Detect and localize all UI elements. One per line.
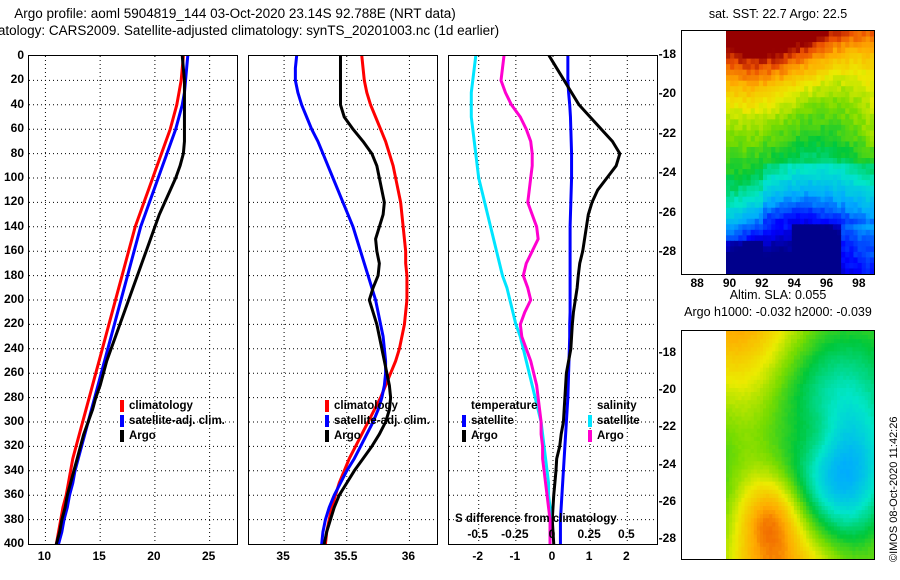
tick-label: 20 (0, 72, 24, 86)
tick-label: -0.5 (458, 527, 498, 541)
tick-label: 260 (0, 365, 24, 379)
difference-top-axis-label: S difference from climatology (455, 513, 617, 525)
legend-row: Argo (462, 428, 537, 443)
sla-map-title1: Altim. SLA: 0.055 (678, 288, 878, 302)
tick-label: -20 (650, 382, 676, 396)
tick-label: -0.25 (495, 527, 535, 541)
difference-legend-temperature: temperaturesatelliteArgo (462, 398, 537, 443)
tick-label: 80 (0, 146, 24, 160)
tick-label: 35 (265, 549, 301, 563)
tick-label: 400 (0, 536, 24, 550)
sla-map-title2: Argo h1000: -0.032 h2000: -0.039 (658, 305, 898, 319)
legend-swatch (325, 400, 329, 412)
page-title-line2: Climatology: CARS2009. Satellite-adjuste… (0, 23, 685, 38)
tick-label: 240 (0, 341, 24, 355)
tick-label: 25 (199, 549, 219, 563)
credit-text: ©IMOS 08-Oct-2020 11:42:26 (888, 417, 900, 562)
legend-row: climatology (120, 398, 225, 413)
temperature-profile-panel (28, 55, 238, 545)
tick-label: 0 (0, 48, 24, 62)
tick-label: 320 (0, 438, 24, 452)
legend-swatch (325, 415, 329, 427)
tick-label: 0 (540, 549, 564, 563)
legend-swatch (588, 415, 592, 427)
tick-label: -18 (650, 47, 676, 61)
tick-label: 220 (0, 316, 24, 330)
legend-label: satellite-adj. clim. (334, 415, 430, 427)
tick-label: 0.25 (569, 527, 609, 541)
legend-spacer (462, 400, 466, 412)
legend-row: satellite-adj. clim. (325, 413, 430, 428)
tick-label: 40 (0, 97, 24, 111)
legend-row: climatology (325, 398, 430, 413)
tick-label: 300 (0, 414, 24, 428)
salinity-profile-panel (248, 55, 438, 545)
difference-profile-panel (448, 55, 658, 545)
tick-label: 35.5 (328, 549, 364, 563)
tick-label: -1 (503, 549, 527, 563)
tick-label: 380 (0, 512, 24, 526)
legend-label: Argo (334, 430, 361, 442)
tick-label: -22 (650, 419, 676, 433)
tick-label: 360 (0, 487, 24, 501)
tick-label: 60 (0, 121, 24, 135)
legend-swatch (120, 415, 124, 427)
tick-label: 100 (0, 170, 24, 184)
tick-label: 1 (577, 549, 601, 563)
legend-label: climatology (334, 400, 398, 412)
tick-label: 340 (0, 463, 24, 477)
sla-map-panel (681, 330, 875, 560)
tick-label: 2 (614, 549, 638, 563)
tick-label: -18 (650, 345, 676, 359)
legend-label: climatology (129, 400, 193, 412)
tick-label: 36 (390, 549, 426, 563)
legend-label: satellite-adj. clim. (129, 415, 225, 427)
temperature-legend: climatologysatellite-adj. clim.Argo (120, 398, 225, 443)
legend-row: salinity (588, 398, 640, 413)
page-title-line1: Argo profile: aoml 5904819_144 03-Oct-20… (0, 6, 685, 21)
sla-heatmap (682, 331, 874, 559)
legend-row: satellite (462, 413, 537, 428)
legend-swatch (588, 430, 592, 442)
tick-label: -24 (650, 165, 676, 179)
legend-swatch (462, 430, 466, 442)
tick-label: -26 (650, 205, 676, 219)
legend-row: satellite-adj. clim. (120, 413, 225, 428)
tick-label: -24 (650, 457, 676, 471)
tick-label: -20 (650, 86, 676, 100)
legend-spacer (588, 400, 592, 412)
legend-label: salinity (597, 400, 637, 412)
tick-label: 280 (0, 390, 24, 404)
tick-label: -22 (650, 126, 676, 140)
legend-row: temperature (462, 398, 537, 413)
legend-row: Argo (120, 428, 225, 443)
tick-label: 0 (532, 527, 572, 541)
tick-label: 160 (0, 243, 24, 257)
legend-swatch (325, 430, 329, 442)
legend-row: satellite (588, 413, 640, 428)
tick-label: -28 (650, 244, 676, 258)
tick-label: 15 (89, 549, 109, 563)
tick-label: -26 (650, 494, 676, 508)
legend-row: Argo (588, 428, 640, 443)
sst-map-panel (681, 30, 875, 275)
legend-label: Argo (129, 430, 156, 442)
legend-label: temperature (471, 400, 537, 412)
legend-label: Argo (597, 430, 624, 442)
legend-swatch (120, 400, 124, 412)
legend-label: Argo (471, 430, 498, 442)
tick-label: 20 (144, 549, 164, 563)
legend-swatch (120, 430, 124, 442)
legend-swatch (462, 415, 466, 427)
difference-legend-salinity: salinitysatelliteArgo (588, 398, 640, 443)
salinity-legend: climatologysatellite-adj. clim.Argo (325, 398, 430, 443)
salinity-plot-area (249, 56, 437, 544)
tick-label: 200 (0, 292, 24, 306)
sst-heatmap (682, 31, 874, 274)
legend-label: satellite (471, 415, 514, 427)
tick-label: 0.5 (606, 527, 646, 541)
sst-map-title: sat. SST: 22.7 Argo: 22.5 (678, 7, 878, 21)
tick-label: 180 (0, 268, 24, 282)
tick-label: -2 (466, 549, 490, 563)
temperature-plot-area (29, 56, 237, 544)
tick-label: 120 (0, 194, 24, 208)
tick-label: 10 (34, 549, 54, 563)
difference-plot-area (449, 56, 657, 544)
legend-row: Argo (325, 428, 430, 443)
legend-label: satellite (597, 415, 640, 427)
tick-label: 140 (0, 219, 24, 233)
tick-label: -28 (650, 531, 676, 545)
